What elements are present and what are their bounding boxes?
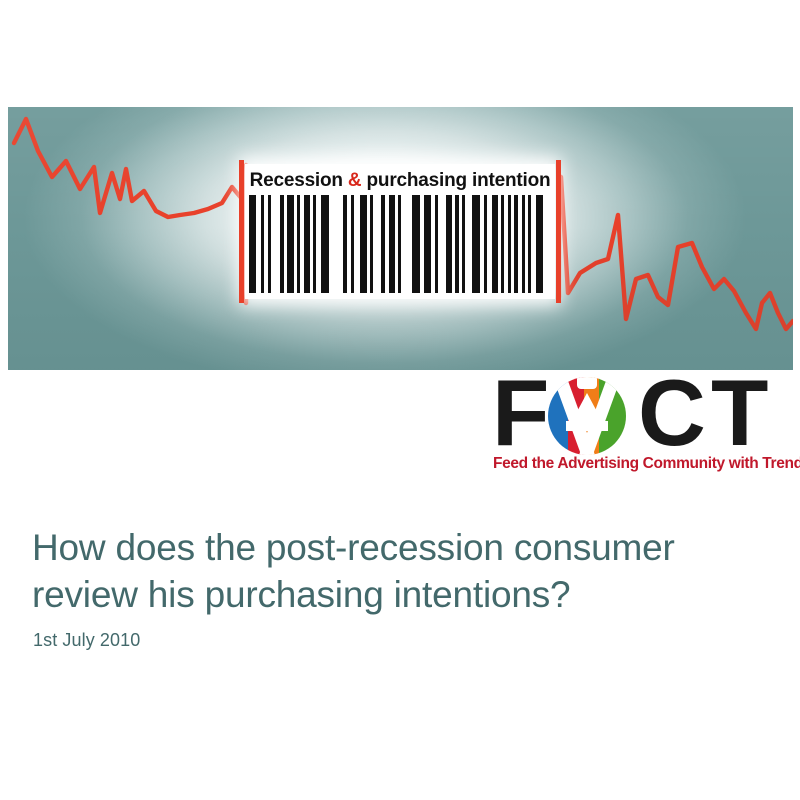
page-title-line-2: review his purchasing intentions? bbox=[32, 571, 752, 618]
barcode-left-red-rule bbox=[239, 160, 244, 303]
fact-letter-c: C bbox=[638, 371, 702, 455]
barcode-graphic: Recession & purchasing intention bbox=[245, 164, 555, 299]
presentation-date: 1st July 2010 bbox=[33, 628, 140, 652]
page-title-line-1: How does the post-recession consumer bbox=[32, 524, 752, 571]
barcode-title-ampersand: & bbox=[348, 170, 362, 191]
barcode-title-text: Recession & purchasing intention bbox=[245, 168, 555, 194]
barcode-title-prefix: Recession bbox=[250, 170, 348, 191]
fact-tagline: Feed the Advertising Community with Tren… bbox=[493, 455, 791, 473]
fact-letter-t: T bbox=[711, 371, 764, 455]
barcode-title-suffix: purchasing intention bbox=[361, 170, 550, 191]
fact-letter-a-circle-icon bbox=[548, 377, 626, 455]
fact-a-counter bbox=[572, 393, 602, 421]
barcode-bars bbox=[249, 195, 551, 293]
fact-logo: F C T Feed the Advertising Community wit… bbox=[492, 371, 790, 479]
fact-a-crossbar-gap bbox=[566, 421, 608, 431]
page-title: How does the post-recession consumer rev… bbox=[32, 524, 752, 618]
fact-a-apex-gap bbox=[577, 377, 597, 389]
fact-wordmark: F C T bbox=[492, 371, 790, 455]
barcode-right-red-rule bbox=[556, 160, 561, 303]
fact-letter-f: F bbox=[492, 371, 545, 455]
